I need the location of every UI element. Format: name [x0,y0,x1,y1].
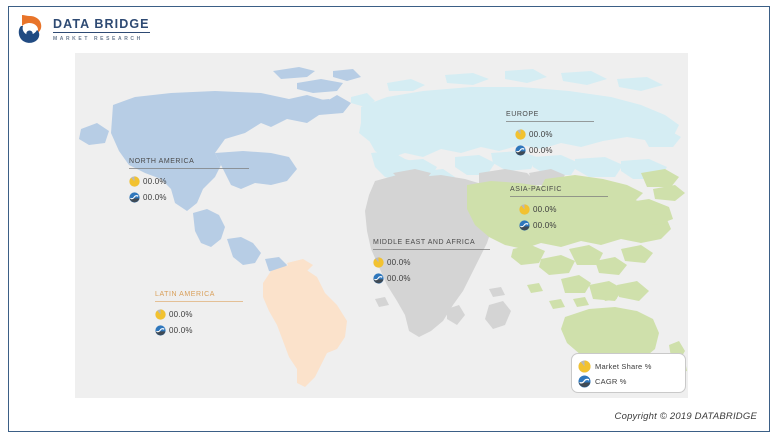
pie-chart-icon [373,257,384,268]
region-rule [506,121,594,122]
region-metrics: 00.0% 00.0% [373,255,490,285]
region-name-middle-east-and-africa: MIDDLE EAST AND AFRICA [373,239,490,246]
globe-growth-icon [515,145,526,156]
metric-value: 00.0% [143,177,167,186]
metric-value: 00.0% [533,205,557,214]
region-callout-asia-pacific[interactable]: ASIA-PACIFIC 00.0% 00.0% [510,186,608,234]
region-metrics: 00.0% 00.0% [510,202,608,232]
metric-value: 00.0% [387,274,411,283]
metric-value: 00.0% [169,326,193,335]
metric-value: 00.0% [529,130,553,139]
pie-chart-icon [129,176,140,187]
metric-cagr: 00.0% [510,218,608,232]
map-legend: Market Share % CAGR % [571,353,686,393]
region-metrics: 00.0% 00.0% [129,174,249,204]
legend-label: Market Share % [595,362,652,371]
globe-growth-icon [129,192,140,203]
data-bridge-logo-icon [17,13,49,45]
region-name-latin-america: LATIN AMERICA [155,291,243,298]
pie-chart-icon [578,360,591,373]
metric-market-share: 00.0% [155,307,243,321]
region-name-north-america: NORTH AMERICA [129,158,249,165]
legend-item-market-share: Market Share % [578,359,679,373]
legend-label: CAGR % [595,377,627,386]
metric-value: 00.0% [529,146,553,155]
brand-subtitle: MARKET RESEARCH [53,36,150,42]
region-name-asia-pacific: ASIA-PACIFIC [510,186,608,193]
pie-chart-icon [519,204,530,215]
region-metrics: 00.0% 00.0% [155,307,243,337]
world-map-panel: NORTH AMERICA 00.0% 00.0% LATIN AMERICA [75,53,688,398]
slide-header: DATA BRIDGE MARKET RESEARCH [9,7,769,51]
region-callout-europe[interactable]: EUROPE 00.0% 00.0% [506,111,594,159]
region-callout-north-america[interactable]: NORTH AMERICA 00.0% 00.0% [129,158,249,206]
metric-cagr: 00.0% [506,143,594,157]
metric-value: 00.0% [143,193,167,202]
region-metrics: 00.0% 00.0% [506,127,594,157]
metric-market-share: 00.0% [373,255,490,269]
region-rule [373,249,490,250]
globe-growth-icon [373,273,384,284]
region-rule [510,196,608,197]
brand-title: DATA BRIDGE [53,18,150,33]
globe-growth-icon [578,375,591,388]
region-name-europe: EUROPE [506,111,594,118]
metric-market-share: 00.0% [129,174,249,188]
region-rule [129,168,249,169]
metric-cagr: 00.0% [155,323,243,337]
metric-value: 00.0% [533,221,557,230]
slide-frame: DATA BRIDGE MARKET RESEARCH [8,6,770,432]
brand-logo-text: DATA BRIDGE MARKET RESEARCH [53,15,150,42]
region-callout-latin-america[interactable]: LATIN AMERICA 00.0% 00.0% [155,291,243,339]
metric-value: 00.0% [387,258,411,267]
globe-growth-icon [519,220,530,231]
metric-value: 00.0% [169,310,193,319]
pie-chart-icon [155,309,166,320]
region-rule [155,301,243,302]
metric-market-share: 00.0% [510,202,608,216]
globe-growth-icon [155,325,166,336]
map-shape-latin-america [263,259,347,387]
metric-market-share: 00.0% [506,127,594,141]
pie-chart-icon [515,129,526,140]
copyright-notice: Copyright © 2019 DATABRIDGE [615,411,757,422]
metric-cagr: 00.0% [129,190,249,204]
region-callout-middle-east-and-africa[interactable]: MIDDLE EAST AND AFRICA 00.0% 00.0% [373,239,490,287]
metric-cagr: 00.0% [373,271,490,285]
brand-logo: DATA BRIDGE MARKET RESEARCH [17,12,197,46]
legend-item-cagr: CAGR % [578,374,679,388]
